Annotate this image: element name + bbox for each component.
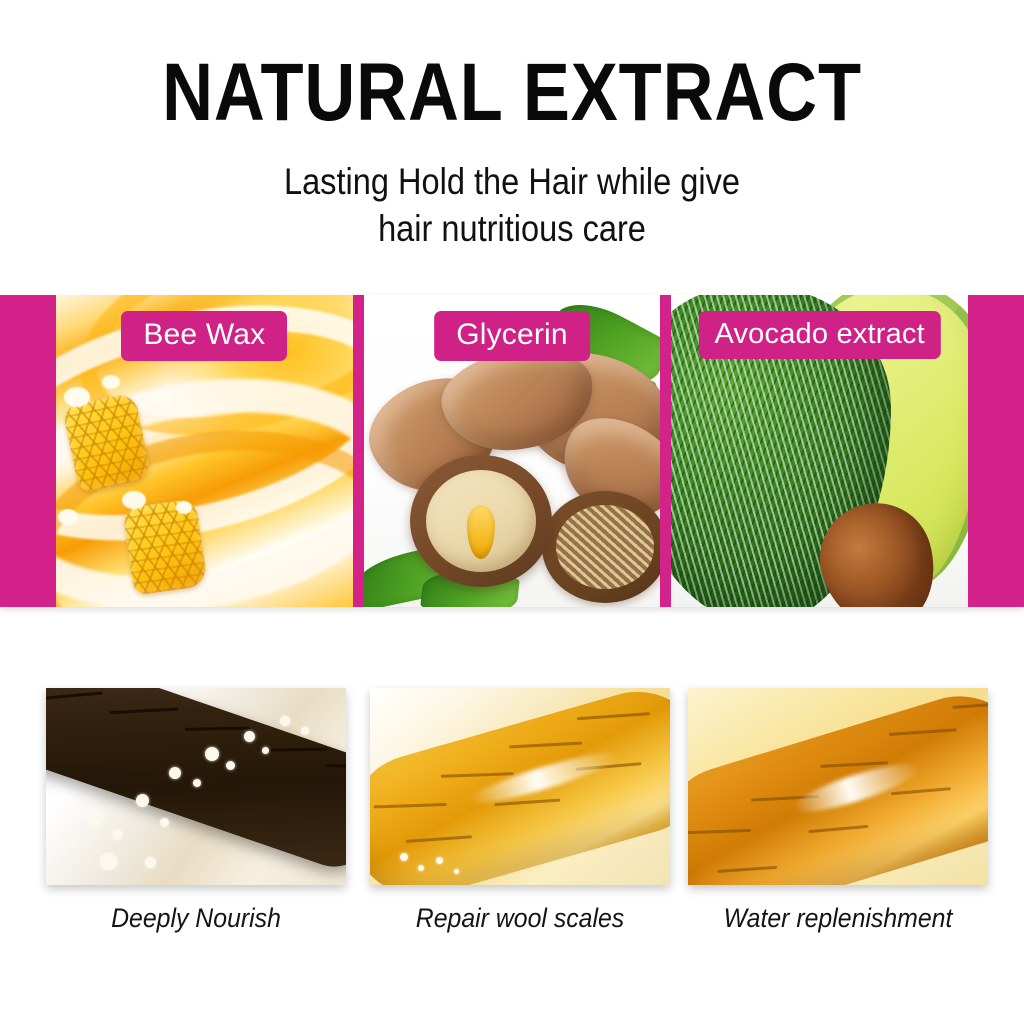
benefit-item-repair-wool-scales[interactable]: Repair wool scales	[370, 688, 670, 934]
benefit-photo-amber-hair-shaft	[688, 688, 988, 885]
benefit-caption-repair-wool-scales: Repair wool scales	[382, 903, 658, 934]
ingredient-panel-avocado-extract[interactable]: Avocado extract	[671, 295, 968, 607]
band-divider-1	[353, 295, 364, 607]
benefit-caption-water-replenishment: Water replenishment	[700, 903, 976, 934]
ingredient-badge-glycerin: Glycerin	[434, 311, 590, 361]
ingredient-badge-avocado-extract: Avocado extract	[698, 311, 940, 359]
infographic-page: NATURAL EXTRACT Lasting Hold the Hair wh…	[0, 0, 1024, 1024]
honeycomb-piece	[122, 498, 208, 595]
page-title: NATURAL EXTRACT	[72, 52, 953, 134]
band-edge-right	[968, 295, 1024, 607]
benefit-photo-dark-hair-strand	[46, 688, 346, 885]
benefit-photo-golden-hair-shaft	[370, 688, 670, 885]
benefit-item-water-replenishment[interactable]: Water replenishment	[688, 688, 988, 934]
band-divider-2	[660, 295, 671, 607]
subtitle-line-2: hair nutritious care	[61, 205, 962, 252]
ingredient-band: Bee Wax Glycerin	[0, 295, 1024, 607]
page-subtitle: Lasting Hold the Hair while give hair nu…	[61, 158, 962, 253]
header-block: NATURAL EXTRACT Lasting Hold the Hair wh…	[0, 0, 1024, 253]
subtitle-line-1: Lasting Hold the Hair while give	[61, 158, 962, 205]
argan-nut-cracked	[410, 455, 552, 587]
ingredient-badge-bee-wax: Bee Wax	[121, 311, 287, 361]
ingredient-panel-glycerin[interactable]: Glycerin	[364, 295, 661, 607]
benefit-item-deeply-nourish[interactable]: Deeply Nourish	[46, 688, 346, 934]
band-edge-left	[0, 295, 56, 607]
benefit-caption-deeply-nourish: Deeply Nourish	[58, 903, 334, 934]
argan-nut-half	[542, 491, 660, 603]
ingredient-panel-bee-wax[interactable]: Bee Wax	[56, 295, 353, 607]
benefit-row: Deeply Nourish	[0, 688, 1024, 948]
